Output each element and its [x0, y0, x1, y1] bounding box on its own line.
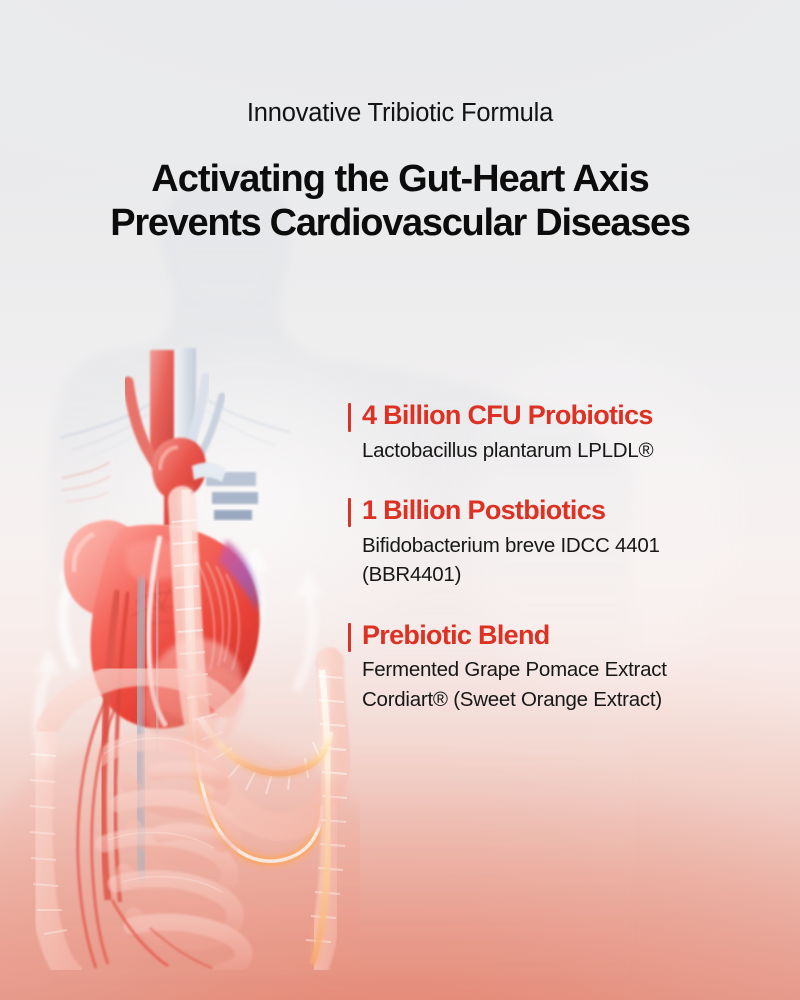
headline-line-1: Activating the Gut-Heart Axis [0, 158, 800, 202]
feature-title: Prebiotic Blend [362, 618, 768, 653]
pulmonary-veins [192, 463, 258, 520]
feature-item-probiotics: 4 Billion CFU Probiotics Lactobacillus p… [348, 398, 768, 465]
anatomy-illustration [0, 340, 360, 970]
feature-title: 4 Billion CFU Probiotics [362, 398, 768, 433]
feature-sub-line: Fermented Grape Pomace Extract [362, 655, 768, 685]
feature-subtitle: Bifidobacterium breve IDCC 4401 (BBR4401… [362, 531, 768, 590]
feature-item-prebiotics: Prebiotic Blend Fermented Grape Pomace E… [348, 618, 768, 715]
feature-item-postbiotics: 1 Billion Postbiotics Bifidobacterium br… [348, 493, 768, 590]
feature-sub-line: Cordiart® (Sweet Orange Extract) [362, 685, 768, 715]
feature-title: 1 Billion Postbiotics [362, 493, 768, 528]
feature-sub-line: (BBR4401) [362, 560, 768, 590]
poster-canvas: Innovative Tribiotic Formula Activating … [0, 0, 800, 1000]
accent-bar-icon [348, 623, 351, 652]
accent-bar-icon [348, 498, 351, 527]
page-title: Activating the Gut-Heart Axis Prevents C… [0, 158, 800, 245]
accent-bar-icon [348, 403, 351, 432]
feature-sub-line: Bifidobacterium breve IDCC 4401 [362, 531, 768, 561]
feature-subtitle: Fermented Grape Pomace Extract Cordiart®… [362, 655, 768, 714]
feature-subtitle: Lactobacillus plantarum LPLDL® [362, 436, 768, 466]
headline-line-2: Prevents Cardiovascular Diseases [0, 202, 800, 246]
feature-sub-line: Lactobacillus plantarum LPLDL® [362, 436, 768, 466]
feature-list: 4 Billion CFU Probiotics Lactobacillus p… [348, 398, 768, 714]
eyebrow-text: Innovative Tribiotic Formula [0, 99, 800, 128]
